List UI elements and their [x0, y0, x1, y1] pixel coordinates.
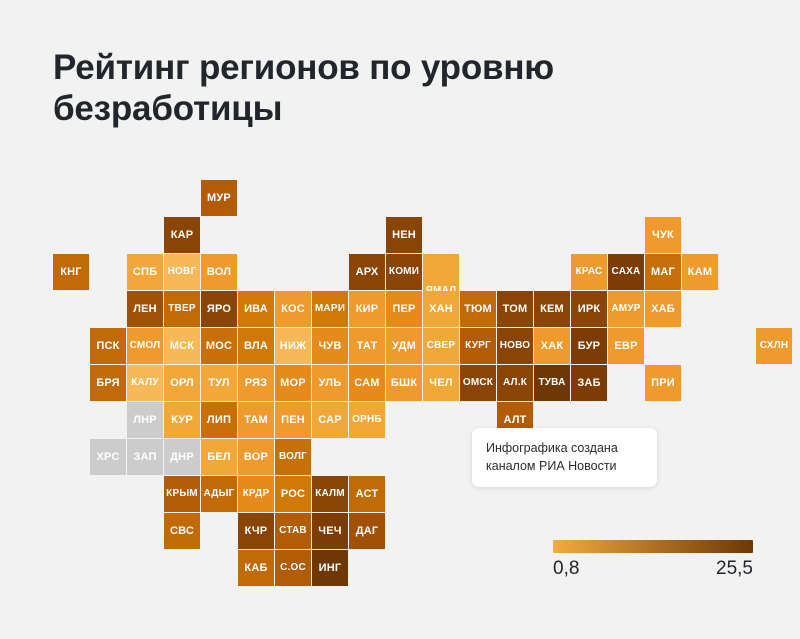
region-tile-label: КУР [171, 415, 193, 426]
region-tile-label: СХЛН [760, 341, 789, 351]
region-tile-label: САР [318, 415, 342, 426]
region-tile[interactable]: БЕЛ [201, 439, 237, 475]
region-tile[interactable]: АМУР [608, 291, 644, 327]
region-tile-label: РЯЗ [245, 378, 267, 389]
region-tile-label: С.ОС [280, 563, 306, 573]
region-tile-label: ИВА [244, 304, 268, 315]
region-tile[interactable]: ОРНБ [349, 402, 385, 438]
region-tile-label: МАГ [651, 267, 675, 278]
region-tile[interactable]: МАРИ [312, 291, 348, 327]
region-tile[interactable]: КОМИ [386, 254, 422, 290]
region-tile-label: АРХ [356, 267, 379, 278]
region-tile[interactable]: СВЕР [423, 328, 459, 364]
region-tile-label: КЕМ [540, 304, 564, 315]
region-tile-label: СТАВ [279, 526, 307, 536]
region-tile[interactable]: САХА [608, 254, 644, 290]
region-tile-label: МСК [170, 341, 194, 352]
region-tile[interactable]: УДМ [386, 328, 422, 364]
region-tile[interactable]: ХАБ [645, 291, 681, 327]
region-tile[interactable]: МУР [201, 180, 237, 216]
region-tile[interactable]: ТЮМ [460, 291, 496, 327]
region-tile-label: КОМИ [389, 267, 419, 277]
region-tile[interactable]: ПСК [90, 328, 126, 364]
legend-max-label: 25,5 [716, 558, 753, 580]
region-tile[interactable]: ТУВА [534, 365, 570, 401]
region-tile[interactable]: С.ОС [275, 550, 311, 586]
region-tile-label: КИР [356, 304, 379, 315]
region-tile[interactable]: ЛНР [127, 402, 163, 438]
region-tile[interactable]: РЯЗ [238, 365, 274, 401]
region-tile[interactable]: ЗАБ [571, 365, 607, 401]
region-tile[interactable]: КОС [275, 291, 311, 327]
region-tile-label: ПРИ [651, 378, 675, 389]
region-tile[interactable]: ЕВР [608, 328, 644, 364]
region-tile-label: КАМ [688, 267, 712, 278]
region-tile-label: БУР [578, 341, 600, 352]
region-tile[interactable]: ЗАП [127, 439, 163, 475]
region-tile[interactable]: ИНГ [312, 550, 348, 586]
region-tile-label: ЗАП [133, 452, 156, 463]
region-tile[interactable]: МОР [275, 365, 311, 401]
region-tile-label: СВЕР [427, 341, 456, 351]
region-tile-label: НОВГ [168, 267, 197, 277]
region-tile-label: АЛ.К [503, 378, 527, 388]
region-tile-label: РОС [281, 489, 305, 500]
region-tile-label: ОМСК [463, 378, 493, 388]
region-tile-label: ЧУВ [318, 341, 341, 352]
region-tile-label: ЧЕЛ [429, 378, 452, 389]
region-tile[interactable]: МАГ [645, 254, 681, 290]
region-tile-label: АМУР [611, 304, 640, 314]
region-tile-label: ТУВА [538, 378, 565, 388]
region-tile-label: КРЫМ [166, 489, 198, 499]
region-tile[interactable]: КНГ [53, 254, 89, 290]
region-tile[interactable]: ЯРО [201, 291, 237, 327]
region-tile-label: БЕЛ [207, 452, 231, 463]
region-tile[interactable]: КРЫМ [164, 476, 200, 512]
legend-min-label: 0,8 [553, 558, 579, 580]
region-tile[interactable]: ЧУК [645, 217, 681, 253]
region-tile-label: УДМ [392, 341, 416, 352]
region-tile-label: ПЕН [281, 415, 305, 426]
region-tile-label: ВОЛ [207, 267, 231, 278]
region-tile[interactable]: КУРГ [460, 328, 496, 364]
region-tile[interactable]: САР [312, 402, 348, 438]
region-tile-label: ОРЛ [170, 378, 194, 389]
region-tile-label: ЧЕЧ [318, 526, 341, 537]
region-tile-label: ТВЕР [168, 304, 195, 314]
region-tile-label: АДЫГ [204, 489, 235, 499]
region-tile[interactable]: СПБ [127, 254, 163, 290]
region-tile-label: КУРГ [465, 341, 491, 351]
region-tile[interactable]: БШК [386, 365, 422, 401]
region-tile[interactable]: ТВЕР [164, 291, 200, 327]
region-tile-label: ХАК [541, 341, 564, 352]
region-tile-label: СВС [170, 526, 194, 537]
region-tile[interactable]: УЛЬ [312, 365, 348, 401]
region-tile[interactable]: ИРК [571, 291, 607, 327]
region-tile[interactable]: РОС [275, 476, 311, 512]
region-tile[interactable]: ТАТ [349, 328, 385, 364]
region-tile-label: ИРК [578, 304, 601, 315]
region-tile-label: ОРНБ [352, 415, 382, 425]
region-tile[interactable]: ДНР [164, 439, 200, 475]
region-tile[interactable]: ИВА [238, 291, 274, 327]
region-tile-label: ХАБ [651, 304, 675, 315]
region-tile[interactable]: КАМ [682, 254, 718, 290]
region-tile-label: НОВО [500, 341, 531, 351]
region-tile[interactable]: ВОЛ [201, 254, 237, 290]
region-tile[interactable]: КИР [349, 291, 385, 327]
region-tile-label: ТОМ [503, 304, 528, 315]
region-tile[interactable]: КАБ [238, 550, 274, 586]
region-tile-label: ХРС [97, 452, 120, 463]
region-tile[interactable]: ХАН [423, 291, 459, 327]
region-tile[interactable]: ОРЛ [164, 365, 200, 401]
region-tile-label: КРДР [243, 489, 270, 499]
region-tile[interactable]: ХАК [534, 328, 570, 364]
region-tile[interactable]: КАЛМ [312, 476, 348, 512]
region-tile[interactable]: ЛИП [201, 402, 237, 438]
region-tile-label: ДАГ [356, 526, 379, 537]
region-tile-label: ИНГ [319, 563, 342, 574]
region-tile[interactable]: МОС [201, 328, 237, 364]
region-tile[interactable]: АСТ [349, 476, 385, 512]
region-tile-label: САМ [354, 378, 379, 389]
region-tile[interactable]: АРХ [349, 254, 385, 290]
region-tile[interactable]: ДАГ [349, 513, 385, 549]
region-tile[interactable]: ПРИ [645, 365, 681, 401]
region-tile[interactable]: КУР [164, 402, 200, 438]
region-tile[interactable]: САМ [349, 365, 385, 401]
region-tile-label: ПСК [96, 341, 119, 352]
region-tile[interactable]: БУР [571, 328, 607, 364]
region-tile-label: ВЛА [244, 341, 268, 352]
color-legend: 0,8 25,5 [553, 540, 753, 580]
region-tile-label: ЗАБ [577, 378, 600, 389]
region-tile-label: ТЮМ [464, 304, 492, 315]
region-tile[interactable]: НЕН [386, 217, 422, 253]
region-tile[interactable]: ЧЕЧ [312, 513, 348, 549]
region-tile[interactable]: НОВГ [164, 254, 200, 290]
region-tile-label: МОР [280, 378, 306, 389]
region-tile-label: БШК [391, 378, 417, 389]
legend-gradient-bar [553, 540, 753, 553]
region-tile-label: КАЛУ [131, 378, 159, 388]
region-tile[interactable]: НОВО [497, 328, 533, 364]
region-tile-label: ЯРО [207, 304, 231, 315]
region-tile[interactable]: АДЫГ [201, 476, 237, 512]
region-tile[interactable]: СХЛН [756, 328, 792, 364]
region-tile-label: СМОЛ [130, 341, 161, 351]
region-tile[interactable]: СМОЛ [127, 328, 163, 364]
region-tile[interactable]: КЧР [238, 513, 274, 549]
legend-labels: 0,8 25,5 [553, 558, 753, 580]
region-tile-label: ДНР [170, 452, 194, 463]
region-tile-label: КАЛМ [315, 489, 345, 499]
region-tile-label: АСТ [356, 489, 379, 500]
region-tile-label: ЛНР [133, 415, 157, 426]
region-tile-label: КАР [171, 230, 194, 241]
region-tile[interactable]: ЧУВ [312, 328, 348, 364]
region-tile-label: НЕН [392, 230, 416, 241]
region-tile-label: БРЯ [96, 378, 119, 389]
region-tile[interactable]: КАР [164, 217, 200, 253]
region-tile-label: МАРИ [315, 304, 345, 314]
region-tile-label: МУР [207, 193, 231, 204]
region-tile[interactable]: СТАВ [275, 513, 311, 549]
region-tile-label: МОС [206, 341, 232, 352]
region-tile[interactable]: ВЛА [238, 328, 274, 364]
region-tile[interactable]: ЧЕЛ [423, 365, 459, 401]
region-tile-label: КЧР [245, 526, 268, 537]
region-tile-label: ТАМ [244, 415, 268, 426]
region-tile-label: КНГ [60, 267, 82, 278]
region-tile-label: ТУЛ [208, 378, 229, 389]
region-tile-label: ЧУК [652, 230, 674, 241]
region-tile-label: НИЖ [280, 341, 306, 352]
region-tile[interactable]: ПЕР [386, 291, 422, 327]
region-tile-label: ВОЛГ [279, 452, 307, 462]
region-tile-label: ПЕР [392, 304, 415, 315]
region-tile[interactable]: НИЖ [275, 328, 311, 364]
region-tile[interactable]: ТУЛ [201, 365, 237, 401]
region-tile-label: УЛЬ [319, 378, 342, 389]
region-tile-label: ЛИП [207, 415, 231, 426]
region-tile[interactable]: ПЕН [275, 402, 311, 438]
region-tile[interactable]: АЛ.К [497, 365, 533, 401]
region-tile-label: СПБ [133, 267, 157, 278]
region-tile[interactable]: КЕМ [534, 291, 570, 327]
region-tile[interactable]: КРДР [238, 476, 274, 512]
region-tile[interactable]: МСК [164, 328, 200, 364]
region-tile-label: САХА [612, 267, 641, 277]
region-tile-label: КРАС [576, 267, 603, 277]
region-tile-label: КОС [281, 304, 305, 315]
region-tile-label: ТАТ [357, 341, 378, 352]
region-tile[interactable]: ЛЕН [127, 291, 163, 327]
region-tile-label: КАБ [244, 563, 267, 574]
region-tile-label: АЛТ [503, 415, 526, 426]
region-tile[interactable]: КАЛУ [127, 365, 163, 401]
region-tile-label: ЕВР [614, 341, 637, 352]
region-tile-label: ХАН [429, 304, 453, 315]
region-tile[interactable]: ТАМ [238, 402, 274, 438]
region-tile[interactable]: СВС [164, 513, 200, 549]
region-tile[interactable]: ХРС [90, 439, 126, 475]
region-tile[interactable]: ТОМ [497, 291, 533, 327]
attribution-card: Инфографика создана каналом РИА Новости [472, 428, 657, 487]
region-tile-label: ВОР [244, 452, 268, 463]
region-tile-label: ЛЕН [133, 304, 157, 315]
region-tile[interactable]: ВОЛГ [275, 439, 311, 475]
region-tile[interactable]: БРЯ [90, 365, 126, 401]
region-tile[interactable]: КРАС [571, 254, 607, 290]
region-tile[interactable]: ВОР [238, 439, 274, 475]
region-tile[interactable]: ОМСК [460, 365, 496, 401]
